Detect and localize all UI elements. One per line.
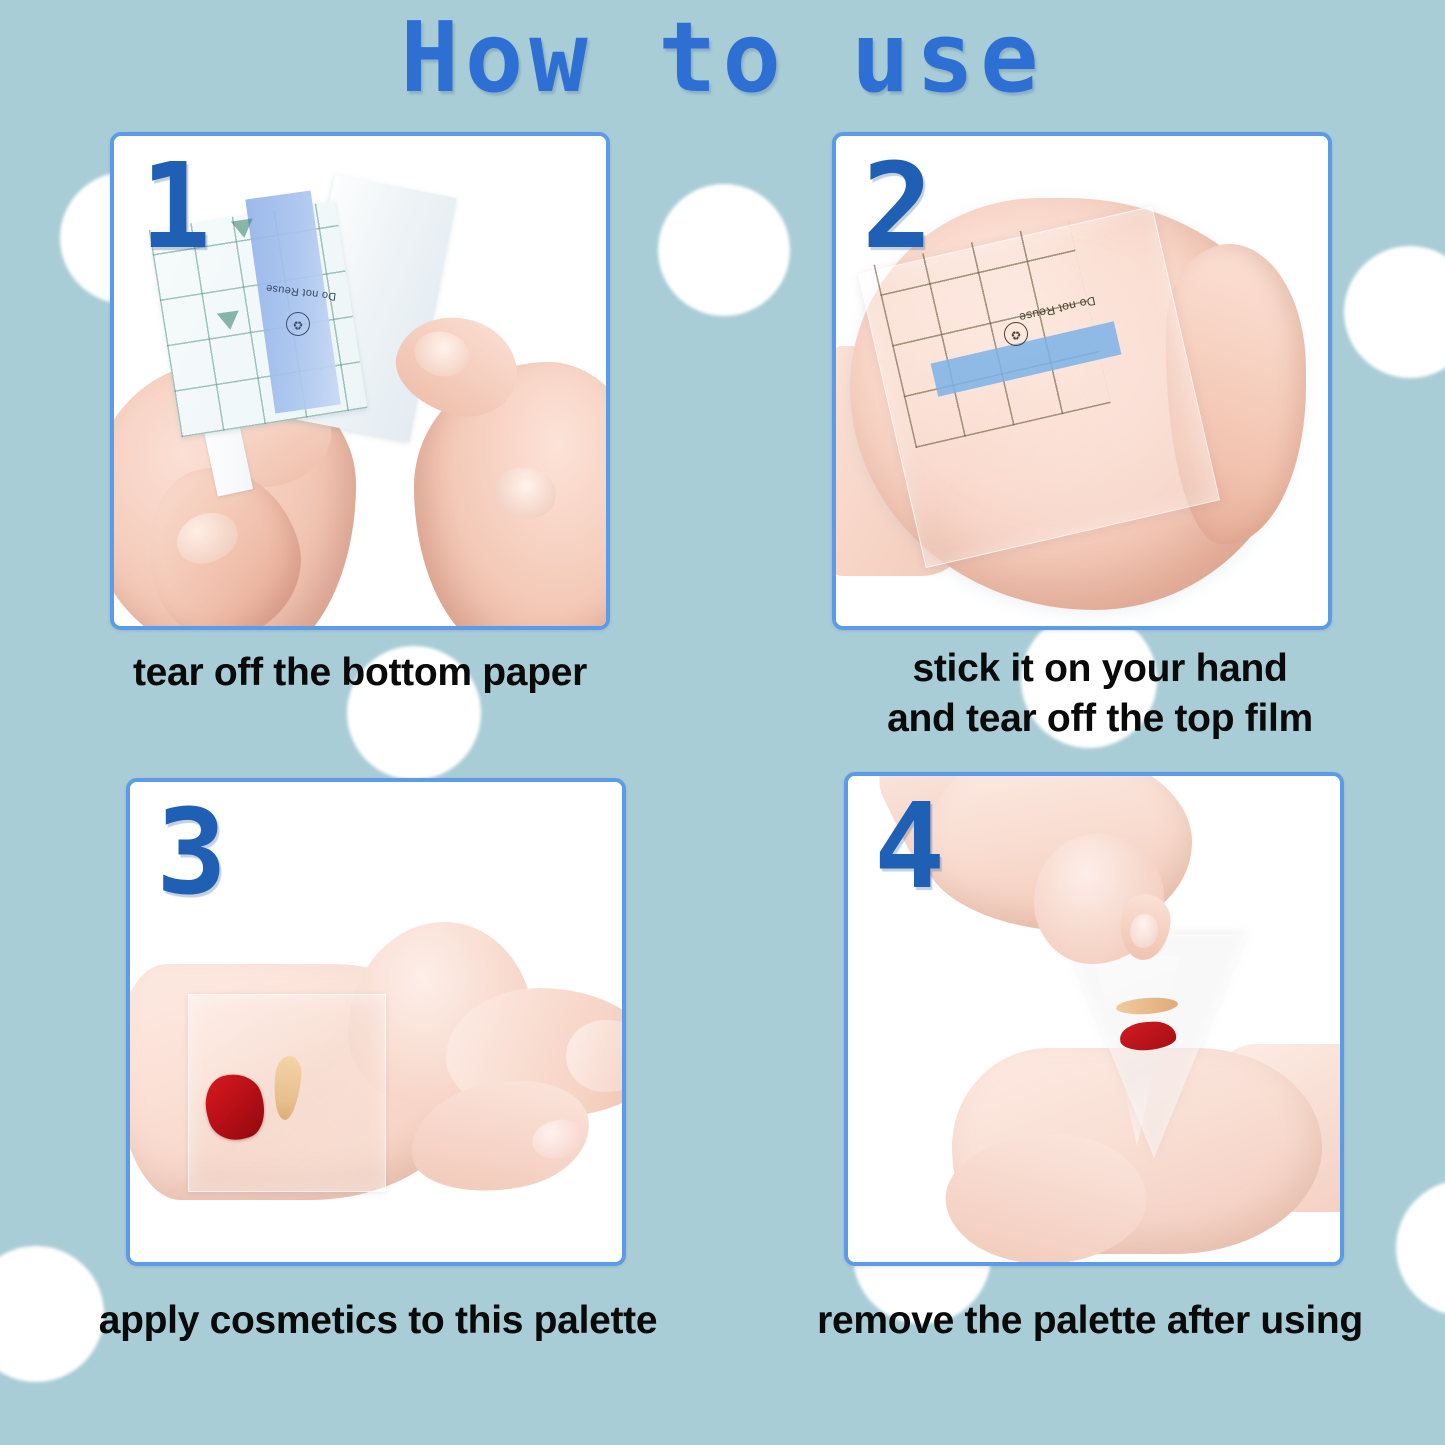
step-2-number: 2 [862,142,933,272]
step-1-caption: tear off the bottom paper [40,648,680,698]
arrow-marker-bottom [217,311,241,332]
step-4-image-card: 4 [844,772,1344,1266]
step-3-image-card: 3 [126,778,626,1266]
background-dot-center-top [658,184,790,316]
step-4-caption: remove the palette after using [740,1296,1440,1346]
step-1-image-card: Do not Reuse ♻ 1 [110,132,610,630]
recycle-icon: ♻ [286,312,310,336]
step-3-number: 3 [156,788,227,918]
recycle-icon: ♻ [1004,322,1028,346]
how-to-use-poster: How to use Do not Reuse ♻ [0,0,1445,1445]
step-1-number: 1 [140,142,211,272]
background-dot-right-top [1344,246,1445,378]
arrow-marker-top [231,219,255,240]
step-2-image-card: Do not Reuse ♻ 2 [832,132,1332,630]
step-4-number: 4 [874,782,945,912]
step-3-caption: apply cosmetics to this palette [20,1296,736,1346]
page-title: How to use [0,6,1445,111]
step-2-caption: stick it on your hand and tear off the t… [790,644,1410,744]
